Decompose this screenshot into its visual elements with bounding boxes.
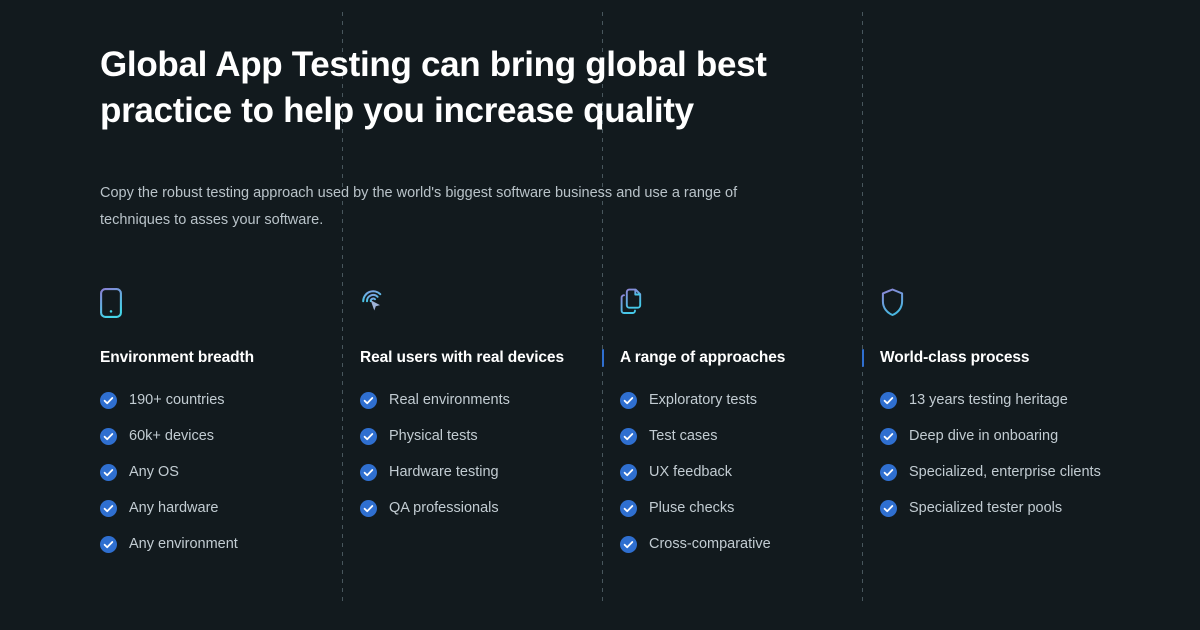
list-item-label: QA professionals xyxy=(389,498,499,519)
check-circle-icon xyxy=(620,428,637,445)
check-circle-icon xyxy=(620,536,637,553)
check-circle-icon xyxy=(100,536,117,553)
feature-list: 190+ countries 60k+ devices Any OS xyxy=(100,390,336,555)
list-item-label: Test cases xyxy=(649,426,718,447)
list-item: Test cases xyxy=(620,426,856,447)
list-item-label: Any environment xyxy=(129,534,238,555)
list-item-label: Deep dive in onboaring xyxy=(909,426,1058,447)
list-item: Any OS xyxy=(100,462,336,483)
shield-icon xyxy=(880,288,1116,318)
list-item-label: Specialized tester pools xyxy=(909,498,1062,519)
page-title: Global App Testing can bring global best… xyxy=(100,42,800,134)
copy-documents-icon xyxy=(620,288,856,318)
column-heading-wrap: Real users with real devices xyxy=(360,348,596,368)
list-item: Pluse checks xyxy=(620,498,856,519)
check-circle-icon xyxy=(360,500,377,517)
list-item: UX feedback xyxy=(620,462,856,483)
check-circle-icon xyxy=(880,464,897,481)
check-circle-icon xyxy=(620,464,637,481)
check-circle-icon xyxy=(100,500,117,517)
list-item: Any environment xyxy=(100,534,336,555)
list-item-label: Physical tests xyxy=(389,426,478,447)
column-heading-wrap: A range of approaches xyxy=(620,348,856,368)
list-item-label: Any hardware xyxy=(129,498,218,519)
list-item: 13 years testing heritage xyxy=(880,390,1116,411)
check-circle-icon xyxy=(100,428,117,445)
list-item-label: Cross-comparative xyxy=(649,534,771,555)
mobile-device-icon xyxy=(100,288,336,318)
check-circle-icon xyxy=(360,392,377,409)
column-title: Environment breadth xyxy=(100,349,254,367)
check-circle-icon xyxy=(620,392,637,409)
list-item-label: Pluse checks xyxy=(649,498,734,519)
column-title: Real users with real devices xyxy=(360,349,564,367)
page-root: Global App Testing can bring global best… xyxy=(0,0,1200,630)
feature-list: Real environments Physical tests Hardwar… xyxy=(360,390,596,519)
list-item-label: Exploratory tests xyxy=(649,390,757,411)
column-title: World-class process xyxy=(880,349,1029,367)
feature-column-environment-breadth: Environment breadth 190+ countries 60k+ … xyxy=(100,288,360,570)
accent-bar xyxy=(602,349,604,367)
check-circle-icon xyxy=(620,500,637,517)
list-item-label: 60k+ devices xyxy=(129,426,214,447)
feature-columns: Environment breadth 190+ countries 60k+ … xyxy=(0,288,1200,570)
list-item: Cross-comparative xyxy=(620,534,856,555)
list-item: Deep dive in onboaring xyxy=(880,426,1116,447)
feature-column-world-class-process: World-class process 13 years testing her… xyxy=(880,288,1140,570)
check-circle-icon xyxy=(880,428,897,445)
tap-cursor-signal-icon xyxy=(360,288,596,318)
feature-column-range-of-approaches: A range of approaches Exploratory tests … xyxy=(620,288,880,570)
list-item-label: 190+ countries xyxy=(129,390,225,411)
list-item-label: 13 years testing heritage xyxy=(909,390,1068,411)
page-subtitle: Copy the robust testing approach used by… xyxy=(100,180,795,234)
list-item-label: Any OS xyxy=(129,462,179,483)
list-item: QA professionals xyxy=(360,498,596,519)
feature-list: Exploratory tests Test cases UX feedback xyxy=(620,390,856,555)
list-item: Physical tests xyxy=(360,426,596,447)
column-heading-wrap: World-class process xyxy=(880,348,1116,368)
list-item-label: UX feedback xyxy=(649,462,732,483)
feature-column-real-users: Real users with real devices Real enviro… xyxy=(360,288,620,570)
list-item: Hardware testing xyxy=(360,462,596,483)
column-heading-wrap: Environment breadth xyxy=(100,348,336,368)
check-circle-icon xyxy=(360,428,377,445)
list-item: Any hardware xyxy=(100,498,336,519)
check-circle-icon xyxy=(880,500,897,517)
check-circle-icon xyxy=(100,392,117,409)
check-circle-icon xyxy=(100,464,117,481)
list-item: Exploratory tests xyxy=(620,390,856,411)
list-item: Specialized, enterprise clients xyxy=(880,462,1116,483)
feature-list: 13 years testing heritage Deep dive in o… xyxy=(880,390,1116,519)
accent-bar xyxy=(862,349,864,367)
column-title: A range of approaches xyxy=(620,349,785,367)
list-item: Specialized tester pools xyxy=(880,498,1116,519)
list-item: Real environments xyxy=(360,390,596,411)
list-item-label: Specialized, enterprise clients xyxy=(909,462,1101,483)
list-item: 60k+ devices xyxy=(100,426,336,447)
list-item-label: Real environments xyxy=(389,390,510,411)
list-item: 190+ countries xyxy=(100,390,336,411)
check-circle-icon xyxy=(880,392,897,409)
check-circle-icon xyxy=(360,464,377,481)
list-item-label: Hardware testing xyxy=(389,462,499,483)
